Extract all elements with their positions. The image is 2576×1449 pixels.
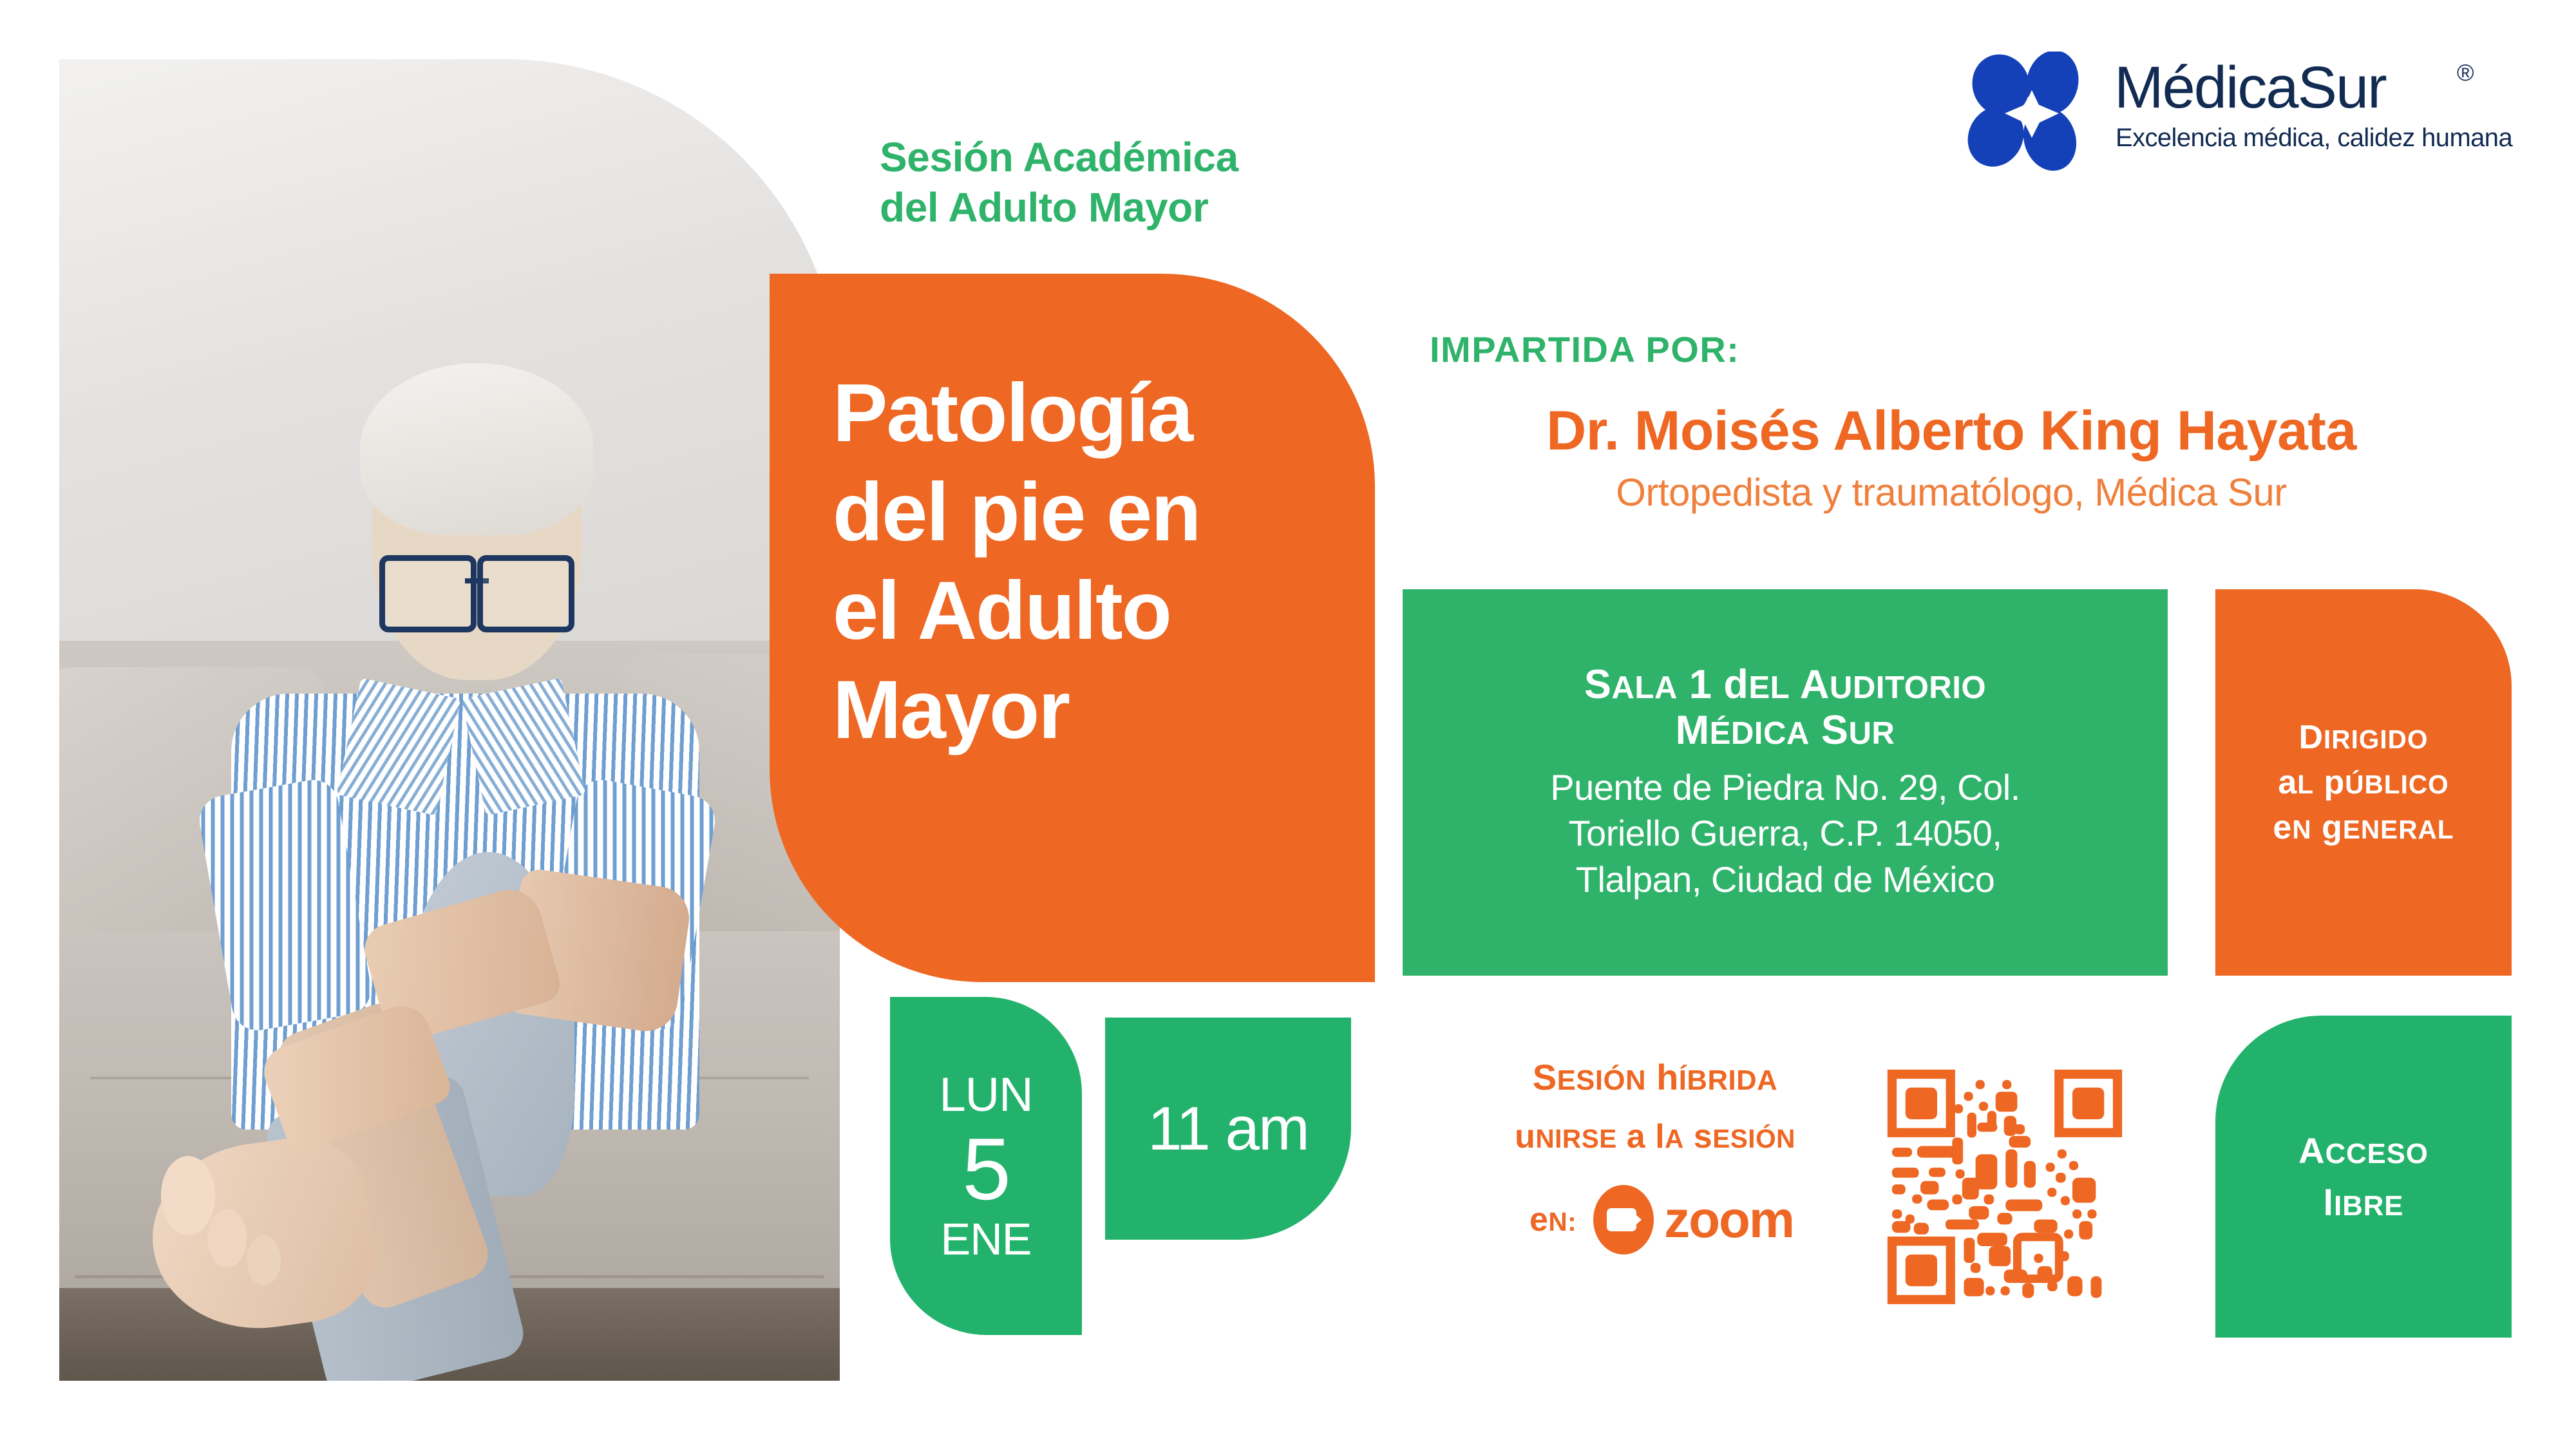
photo-toe-second xyxy=(207,1209,247,1267)
title-panel: Patología del pie en el Adulto Mayor xyxy=(770,274,1375,982)
title-line-4: Mayor xyxy=(833,661,1341,760)
address-line-1: Puente de Piedra No. 29, Col. xyxy=(1550,764,2020,811)
audience-line-1: DIRIGIDO xyxy=(2273,715,2454,760)
date-month: ENE xyxy=(941,1217,1032,1262)
eyebrow-line-1: Sesión Académica xyxy=(880,132,1434,182)
section-eyebrow: Sesión Académica del Adulto Mayor xyxy=(880,132,1434,232)
venue-name-line-1: SALA 1 dEL AUDITORIO xyxy=(1584,662,1986,708)
zoom-camera-lens xyxy=(1629,1208,1642,1231)
logo-name-sur: Sur xyxy=(2298,55,2386,120)
venue-address: Puente de Piedra No. 29, Col. Toriello G… xyxy=(1550,764,2020,903)
access-line-1: ACCESO xyxy=(2298,1124,2429,1177)
photo-hair xyxy=(360,363,594,535)
hybrid-line-2: uNIRSE a lA sESIÓN xyxy=(1436,1117,1874,1156)
venue-name-line-2: MÉDICA SUR xyxy=(1584,708,1986,753)
time-value: 11 am xyxy=(1148,1094,1309,1164)
page-title: Patología del pie en el Adulto Mayor xyxy=(833,364,1341,759)
title-line-2: del pie en xyxy=(833,463,1341,562)
audience-line-3: eN gENERAL xyxy=(2273,805,2454,850)
logo-tagline: Excelencia médica, calidez humana xyxy=(2116,124,2512,153)
date-badge: LUN 5 ENE xyxy=(890,997,1082,1335)
venue-name: SALA 1 dEL AUDITORIO MÉDICA SUR xyxy=(1584,662,1986,753)
access-line-2: lIBRE xyxy=(2298,1177,2429,1229)
audience-text: DIRIGIDO aL pÚBLICO eN gENERAL xyxy=(2273,715,2454,851)
speaker-role: Ortopedista y traumatólogo, Médica Sur xyxy=(1401,470,2502,515)
speaker-name: Dr. Moisés Alberto King Hayata xyxy=(1401,399,2502,463)
audience-line-2: aL pÚBLICO xyxy=(2273,760,2454,805)
zoom-wordmark: zoom xyxy=(1664,1190,1794,1249)
hero-photo xyxy=(59,59,840,1381)
venue-panel: SALA 1 dEL AUDITORIO MÉDICA SUR Puente d… xyxy=(1403,589,2168,976)
eyebrow-line-2: del Adulto Mayor xyxy=(880,182,1434,232)
zoom-join-row[interactable]: eN: zoom xyxy=(1436,1185,1887,1255)
photo-toe-third xyxy=(247,1235,281,1285)
registered-trademark-icon: ® xyxy=(2457,59,2474,86)
hybrid-session-info: SESIÓN hÍBRIDA uNIRSE a lA sESIÓN xyxy=(1436,1056,1874,1156)
address-line-2: Toriello Guerra, C.P. 14050, xyxy=(1550,810,2020,857)
title-line-1: Patología xyxy=(833,364,1341,463)
hybrid-line-1: SESIÓN hÍBRIDA xyxy=(1436,1056,1874,1098)
speaker-label: IMPARTIDA POR: xyxy=(1430,328,1739,370)
time-badge: 11 am xyxy=(1105,1018,1351,1240)
photo-lens-right xyxy=(477,555,574,633)
zoom-logo[interactable]: zoom xyxy=(1593,1185,1794,1255)
zoom-prefix-label: eN: xyxy=(1529,1200,1577,1239)
poster-canvas: Sesión Académica del Adulto Mayor Patolo… xyxy=(0,0,2576,1449)
photo-lens-left xyxy=(379,555,477,633)
audience-panel: DIRIGIDO aL pÚBLICO eN gENERAL xyxy=(2215,589,2512,976)
address-line-3: Tlalpan, Ciudad de México xyxy=(1550,857,2020,903)
logo-name-medica: Médica xyxy=(2114,55,2298,120)
logo-wordmark: MédicaSur xyxy=(2114,54,2386,122)
access-panel: ACCESO lIBRE xyxy=(2215,1016,2512,1338)
title-line-3: el Adulto xyxy=(833,562,1341,661)
medica-sur-logo: MédicaSur ® Excelencia médica, calidez h… xyxy=(1967,52,2502,180)
qr-code-icon[interactable] xyxy=(1884,1066,2126,1308)
photo-eyeglasses-icon xyxy=(379,555,574,621)
access-text: ACCESO lIBRE xyxy=(2298,1124,2429,1229)
photo-toe-big xyxy=(161,1156,216,1235)
date-day-of-week: LUN xyxy=(939,1071,1032,1119)
date-day-number: 5 xyxy=(962,1125,1010,1213)
four-petal-flower-icon xyxy=(1967,52,2096,174)
zoom-camera-icon xyxy=(1593,1185,1654,1255)
